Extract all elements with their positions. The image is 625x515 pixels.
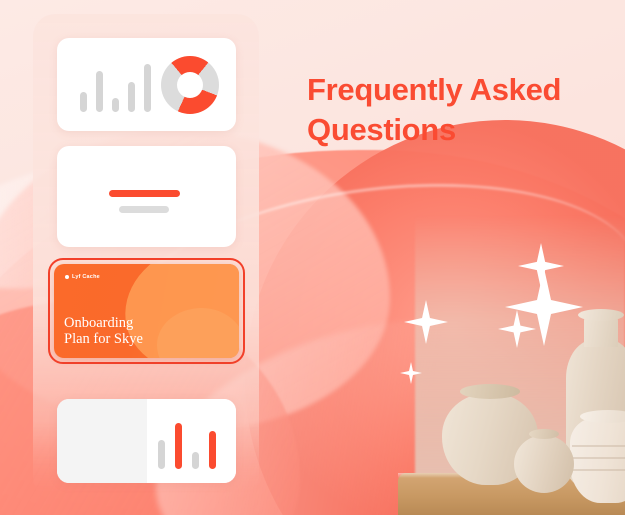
accent-line-icon xyxy=(109,190,180,197)
sparkle-left-icon xyxy=(404,300,448,344)
sparkle-glyph xyxy=(400,362,422,384)
template-card-split-chart[interactable] xyxy=(57,399,236,483)
template-card-text-block[interactable] xyxy=(57,146,236,247)
vase-lip xyxy=(578,309,624,321)
card-badge-label: Lyf Cache xyxy=(72,274,100,280)
bar xyxy=(192,452,199,469)
page-title: Frequently Asked Questions xyxy=(307,70,607,150)
template-card-analytics[interactable] xyxy=(57,38,236,131)
vase-rib xyxy=(572,457,625,459)
bar xyxy=(112,98,119,112)
badge-dot-icon xyxy=(65,275,69,279)
page-title-line-2: Questions xyxy=(307,110,607,150)
vase-ribbed-wide xyxy=(570,417,625,503)
bar xyxy=(144,64,151,112)
bar-chart-icon xyxy=(158,423,216,469)
template-card-onboarding[interactable]: Lyf Cache Onboarding Plan for Skye xyxy=(54,264,239,358)
page-title-line-1: Frequently Asked xyxy=(307,70,607,110)
hero-stage: Frequently Asked Questions Lyf Cache Onb… xyxy=(0,0,625,515)
sparkle-medium-icon xyxy=(518,243,564,289)
muted-line-icon xyxy=(119,206,169,213)
sparkle-small-icon xyxy=(498,310,536,348)
bar xyxy=(158,440,165,469)
bar-chart-icon xyxy=(80,60,151,112)
template-card-list: Lyf Cache Onboarding Plan for Skye xyxy=(33,14,259,500)
vase-lip xyxy=(460,384,520,399)
card-title: Onboarding Plan for Skye xyxy=(64,316,143,347)
card-badge: Lyf Cache xyxy=(65,274,100,280)
bar xyxy=(96,71,103,112)
sparkle-glyph xyxy=(404,300,448,344)
donut-chart-icon xyxy=(161,56,219,114)
sparkle-tiny-icon xyxy=(400,362,422,384)
vase-round-small xyxy=(514,435,574,493)
card-left-pane xyxy=(57,399,147,483)
vase-lip xyxy=(580,410,625,423)
sparkle-glyph xyxy=(498,310,536,348)
bar xyxy=(209,431,216,469)
bar xyxy=(128,82,135,112)
bar xyxy=(80,92,87,112)
vase-lip xyxy=(529,429,559,439)
bar xyxy=(175,423,182,469)
sparkle-glyph xyxy=(518,243,564,289)
card-title-line-2: Plan for Skye xyxy=(64,332,143,348)
card-title-line-1: Onboarding xyxy=(64,316,143,332)
vase-rib xyxy=(572,445,625,447)
vase-rib xyxy=(572,469,625,471)
